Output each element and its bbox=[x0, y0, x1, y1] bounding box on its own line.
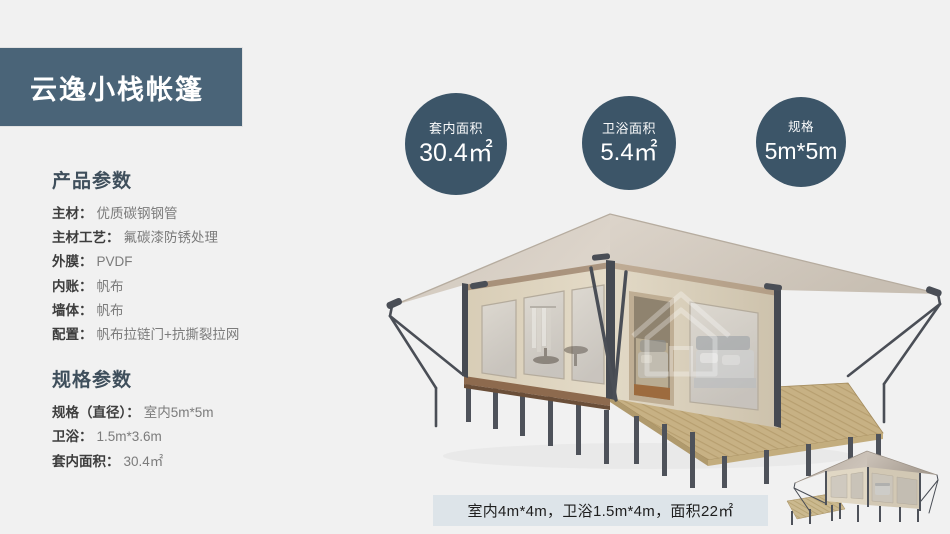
size-params-block: 规格参数 规格（直径）： 室内5m*5m 卫浴： 1.5m*3.6m 套内面积：… bbox=[52, 365, 382, 470]
product-params-heading: 产品参数 bbox=[52, 166, 382, 193]
size-params-heading: 规格参数 bbox=[52, 365, 382, 392]
stat-circle-indoor-area: 套内面积 30.4㎡ bbox=[405, 93, 507, 195]
spec-label: 主材： bbox=[52, 206, 93, 222]
spec-label: 卫浴： bbox=[52, 429, 93, 445]
spec-value: 帆布 bbox=[97, 279, 124, 295]
spec-row: 卫浴： 1.5m*3.6m bbox=[52, 429, 382, 445]
spec-row: 套内面积： 30.4㎡ bbox=[52, 454, 382, 470]
spec-row: 主材： 优质碳钢钢管 bbox=[52, 206, 382, 222]
spec-label: 主材工艺： bbox=[52, 230, 120, 246]
spec-label: 内账： bbox=[52, 279, 93, 295]
spec-row: 内账： 帆布 bbox=[52, 279, 382, 295]
stat-value: 5.4㎡ bbox=[600, 141, 657, 165]
size-params-list: 规格（直径）： 室内5m*5m 卫浴： 1.5m*3.6m 套内面积： 30.4… bbox=[52, 405, 382, 470]
spec-label: 套内面积： bbox=[52, 454, 120, 470]
spec-row: 墙体： 帆布 bbox=[52, 303, 382, 319]
spec-value: 帆布拉链门+抗撕裂拉网 bbox=[97, 327, 240, 343]
specification-column: 产品参数 主材： 优质碳钢钢管 主材工艺： 氟碳漆防锈处理 外膜： PVDF 内… bbox=[52, 166, 382, 478]
tent-thumbnail-illustration bbox=[775, 443, 943, 531]
spec-value: 优质碳钢钢管 bbox=[97, 206, 178, 222]
stat-circle-group: 套内面积 30.4㎡ 卫浴面积 5.4㎡ 规格 5m*5m bbox=[405, 88, 865, 200]
spec-row: 规格（直径）： 室内5m*5m bbox=[52, 405, 382, 421]
spec-value: PVDF bbox=[97, 254, 133, 270]
spec-label: 外膜： bbox=[52, 254, 93, 270]
stat-circle-bathroom-area: 卫浴面积 5.4㎡ bbox=[582, 96, 676, 190]
stat-label: 卫浴面积 bbox=[602, 122, 656, 135]
product-params-list: 主材： 优质碳钢钢管 主材工艺： 氟碳漆防锈处理 外膜： PVDF 内账： 帆布… bbox=[52, 206, 382, 343]
product-params-block: 产品参数 主材： 优质碳钢钢管 主材工艺： 氟碳漆防锈处理 外膜： PVDF 内… bbox=[52, 166, 382, 343]
spec-value: 帆布 bbox=[97, 303, 124, 319]
spec-value: 室内5m*5m bbox=[144, 405, 214, 421]
tent-render-inset bbox=[775, 443, 943, 531]
spec-value: 氟碳漆防锈处理 bbox=[124, 230, 219, 246]
poster-page: 云逸小栈帐篷 产品参数 主材： 优质碳钢钢管 主材工艺： 氟碳漆防锈处理 外膜：… bbox=[0, 0, 950, 534]
spec-row: 外膜： PVDF bbox=[52, 254, 382, 270]
stat-label: 规格 bbox=[788, 121, 814, 134]
stat-label: 套内面积 bbox=[429, 122, 483, 135]
spec-label: 配置： bbox=[52, 327, 93, 343]
stat-value: 30.4㎡ bbox=[419, 141, 493, 166]
caption-bar: 室内4m*4m，卫浴1.5m*4m，面积22㎡ bbox=[433, 495, 768, 526]
spec-value: 30.4㎡ bbox=[124, 454, 164, 470]
spec-row: 主材工艺： 氟碳漆防锈处理 bbox=[52, 230, 382, 246]
stat-value: 5m*5m bbox=[765, 140, 838, 163]
spec-label: 规格（直径）： bbox=[52, 405, 140, 421]
caption-text: 室内4m*4m，卫浴1.5m*4m，面积22㎡ bbox=[467, 500, 733, 521]
spec-row: 配置： 帆布拉链门+抗撕裂拉网 bbox=[52, 327, 382, 343]
title-banner: 云逸小栈帐篷 bbox=[0, 48, 242, 126]
spec-value: 1.5m*3.6m bbox=[97, 429, 162, 445]
page-title: 云逸小栈帐篷 bbox=[0, 68, 204, 107]
stat-circle-dimensions: 规格 5m*5m bbox=[756, 97, 846, 187]
spec-label: 墙体： bbox=[52, 303, 93, 319]
